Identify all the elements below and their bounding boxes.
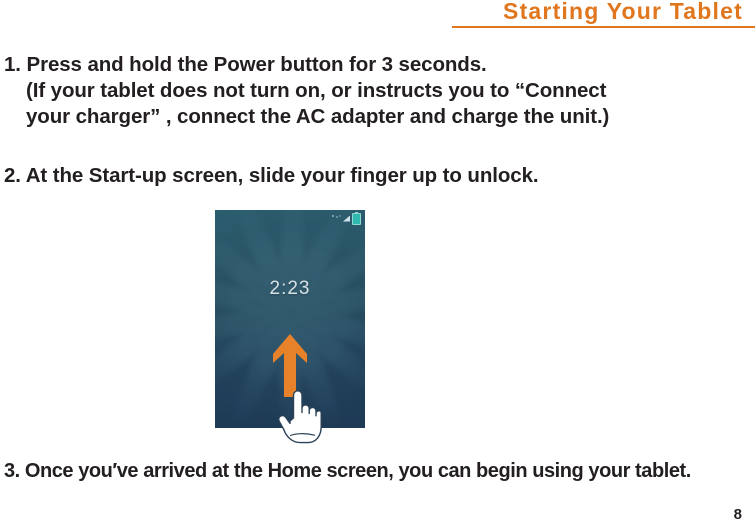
signal-dots-icon — [332, 215, 341, 222]
pointing-hand-cursor-icon — [276, 388, 322, 446]
lock-screen-clock: 2:23 — [215, 278, 365, 300]
instruction-step-2: 2. At the Start-up screen, slide your fi… — [4, 163, 539, 189]
tablet-illustration: 2:23 — [215, 210, 365, 428]
step-1-line-2: (If your tablet does not turn on, or ins… — [4, 78, 609, 104]
page-number: 8 — [734, 506, 742, 523]
title-underline-rule — [452, 26, 755, 28]
step-1-line-3: your charger” , connect the AC adapter a… — [4, 104, 609, 130]
instruction-step-1: 1. Press and hold the Power button for 3… — [4, 52, 609, 130]
step-1-line-1: 1. Press and hold the Power button for 3… — [4, 52, 609, 78]
wifi-icon — [343, 216, 350, 222]
page-title: Starting Your Tablet — [503, 0, 743, 25]
step-2-line-1: 2. At the Start-up screen, slide your fi… — [4, 163, 539, 189]
battery-icon — [352, 213, 361, 225]
instruction-step-3: 3. Once you′ve arrived at the Home scree… — [4, 458, 748, 484]
tablet-status-bar — [332, 213, 361, 224]
page-header: Starting Your Tablet — [0, 0, 755, 30]
step-3-line-1: 3. Once you′ve arrived at the Home scree… — [4, 458, 748, 484]
